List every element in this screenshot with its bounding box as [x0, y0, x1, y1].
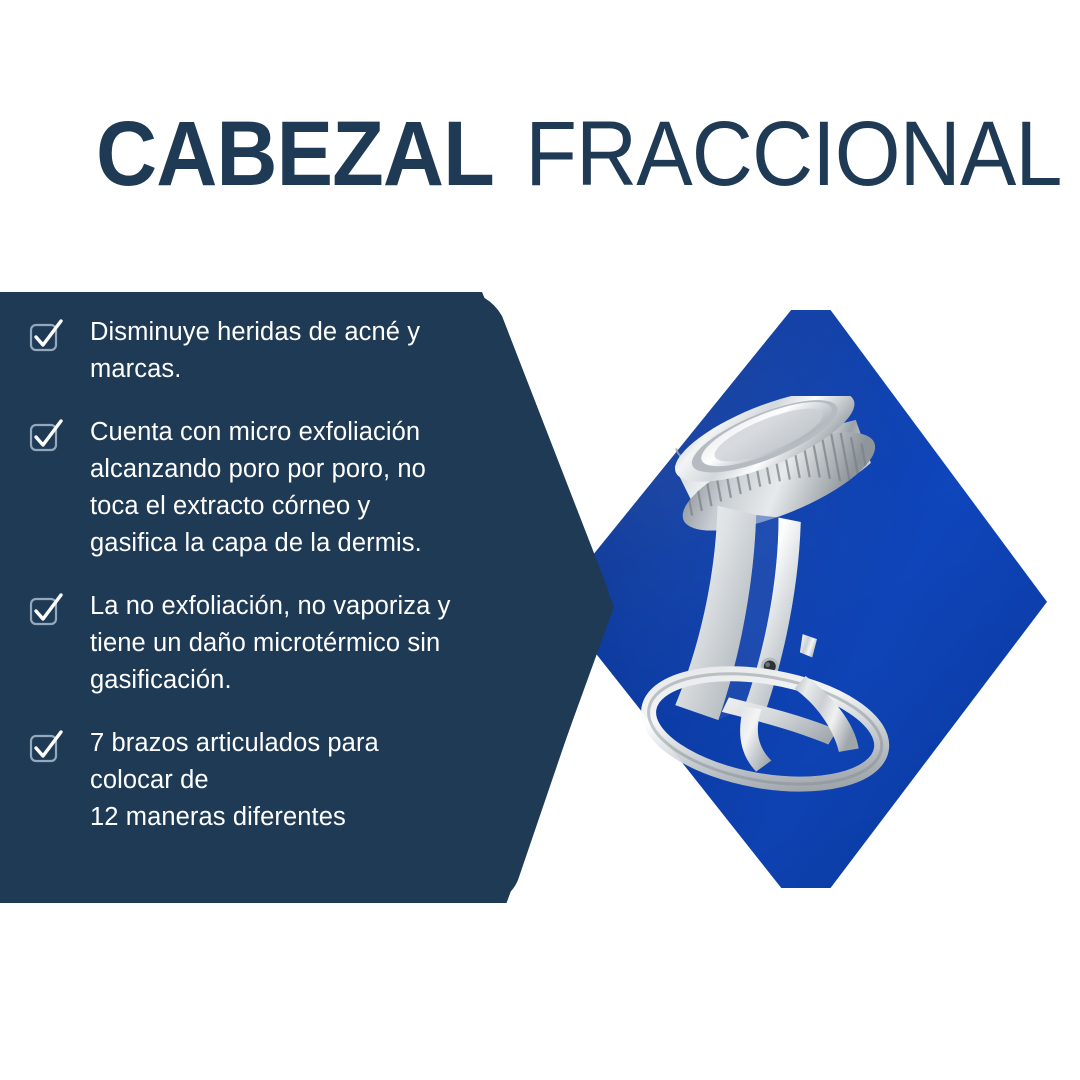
product-diamond [555, 310, 1047, 888]
list-item: Cuenta con micro exfoliación alcanzando … [0, 414, 560, 562]
list-item-label: La no exfoliación, no vaporiza y tiene u… [90, 588, 450, 699]
title-light-word: FRACCIONAL [505, 108, 1062, 200]
checkbox-checked-icon [28, 320, 62, 354]
list-item-label: Disminuye heridas de acné y marcas. [90, 314, 420, 388]
list-item-label: Cuenta con micro exfoliación alcanzando … [90, 414, 426, 562]
page-title: CABEZAL FRACCIONAL [96, 108, 1016, 204]
list-item-label: 7 brazos articulados para colocar de 12 … [90, 725, 379, 836]
features-list: Disminuye heridas de acné y marcas. Cuen… [0, 292, 560, 903]
poster-canvas: CABEZAL FRACCIONAL [0, 0, 1080, 1080]
checkbox-checked-icon [28, 420, 62, 454]
list-item: La no exfoliación, no vaporiza y tiene u… [0, 588, 560, 699]
list-item: 7 brazos articulados para colocar de 12 … [0, 725, 560, 836]
checkbox-checked-icon [28, 731, 62, 765]
title-bold-word: CABEZAL [96, 108, 494, 200]
list-item: Disminuye heridas de acné y marcas. [0, 314, 560, 388]
checkbox-checked-icon [28, 594, 62, 628]
fractional-handpiece-tip-image [633, 396, 973, 826]
